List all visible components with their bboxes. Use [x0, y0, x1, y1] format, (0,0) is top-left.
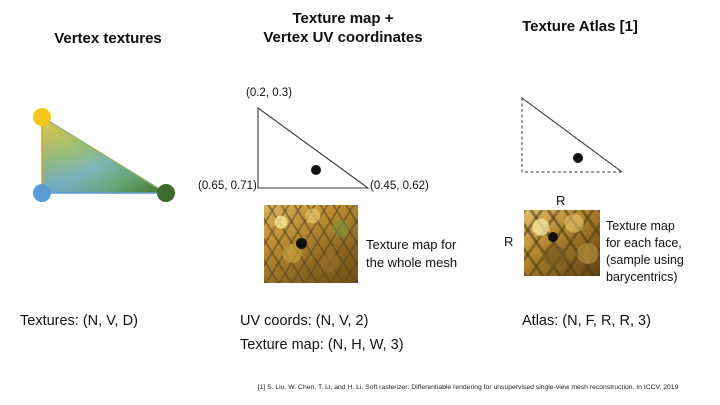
texture-atlas-sample-dot — [548, 232, 558, 242]
column-title-vertex-textures: Vertex textures — [8, 30, 208, 49]
vertex-dot-bottom-right — [157, 184, 175, 202]
column-title-texture-map-uv: Texture map + Vertex UV coordinates — [228, 10, 458, 48]
atlas-triangle-svg — [510, 90, 670, 190]
texture-atlas-caption: Texture map for each face, (sample using… — [606, 218, 684, 286]
texture-map-image-whole-mesh — [264, 205, 358, 283]
texture-atlas-image-per-face — [524, 210, 600, 276]
texture-map-caption-line1: Texture map for — [366, 236, 457, 254]
vertex-dot-bottom-left — [33, 184, 51, 202]
texture-map-caption-whole-mesh: Texture map for the whole mesh — [366, 236, 457, 271]
vertex-textures-triangle-svg — [20, 105, 200, 215]
uv-summary-line1: UV coords: (N, V, 2) — [240, 312, 368, 331]
texture-map-sample-dot — [296, 238, 307, 249]
texture-map-caption-line2: the whole mesh — [366, 254, 457, 272]
uv-sample-point-dot — [311, 165, 321, 175]
column-title-texture-atlas: Texture Atlas [1] — [470, 18, 690, 37]
atlas-summary: Atlas: (N, F, R, R, 3) — [522, 312, 651, 331]
texture-atlas-caption-line3: (sample using — [606, 252, 684, 269]
column-title-uv-line2: Vertex UV coordinates — [228, 29, 458, 48]
atlas-triangle-hypotenuse — [522, 98, 622, 172]
vertex-dot-top — [33, 108, 51, 126]
column-title-texture-atlas-text: Texture Atlas [1] — [522, 18, 638, 35]
uv-label-top: (0.2, 0.3) — [246, 87, 292, 99]
texture-atlas-caption-line1: Texture map — [606, 218, 684, 235]
footnote-reference: [1] S. Liu, W. Chen, T. Li, and H. Li. S… — [218, 384, 718, 393]
vertex-textures-summary: Textures: (N, V, D) — [20, 312, 138, 331]
atlas-triangle-figure — [510, 90, 670, 190]
uv-label-left: (0.65, 0.71) — [198, 180, 257, 192]
atlas-sample-point-dot — [573, 153, 583, 163]
column-title-vertex-textures-text: Vertex textures — [54, 30, 162, 47]
uv-triangle-outline — [258, 108, 368, 188]
texture-atlas-caption-line2: for each face, — [606, 235, 684, 252]
column-title-uv-line1: Texture map + — [228, 10, 458, 29]
uv-label-right: (0.45, 0.62) — [370, 180, 429, 192]
uv-summary-line2: Texture map: (N, H, W, 3) — [240, 336, 404, 355]
atlas-label-top-r: R — [556, 193, 565, 208]
vertex-textures-figure — [20, 105, 200, 215]
atlas-label-left-r: R — [504, 234, 513, 249]
texture-atlas-caption-line4: barycentrics) — [606, 269, 684, 286]
